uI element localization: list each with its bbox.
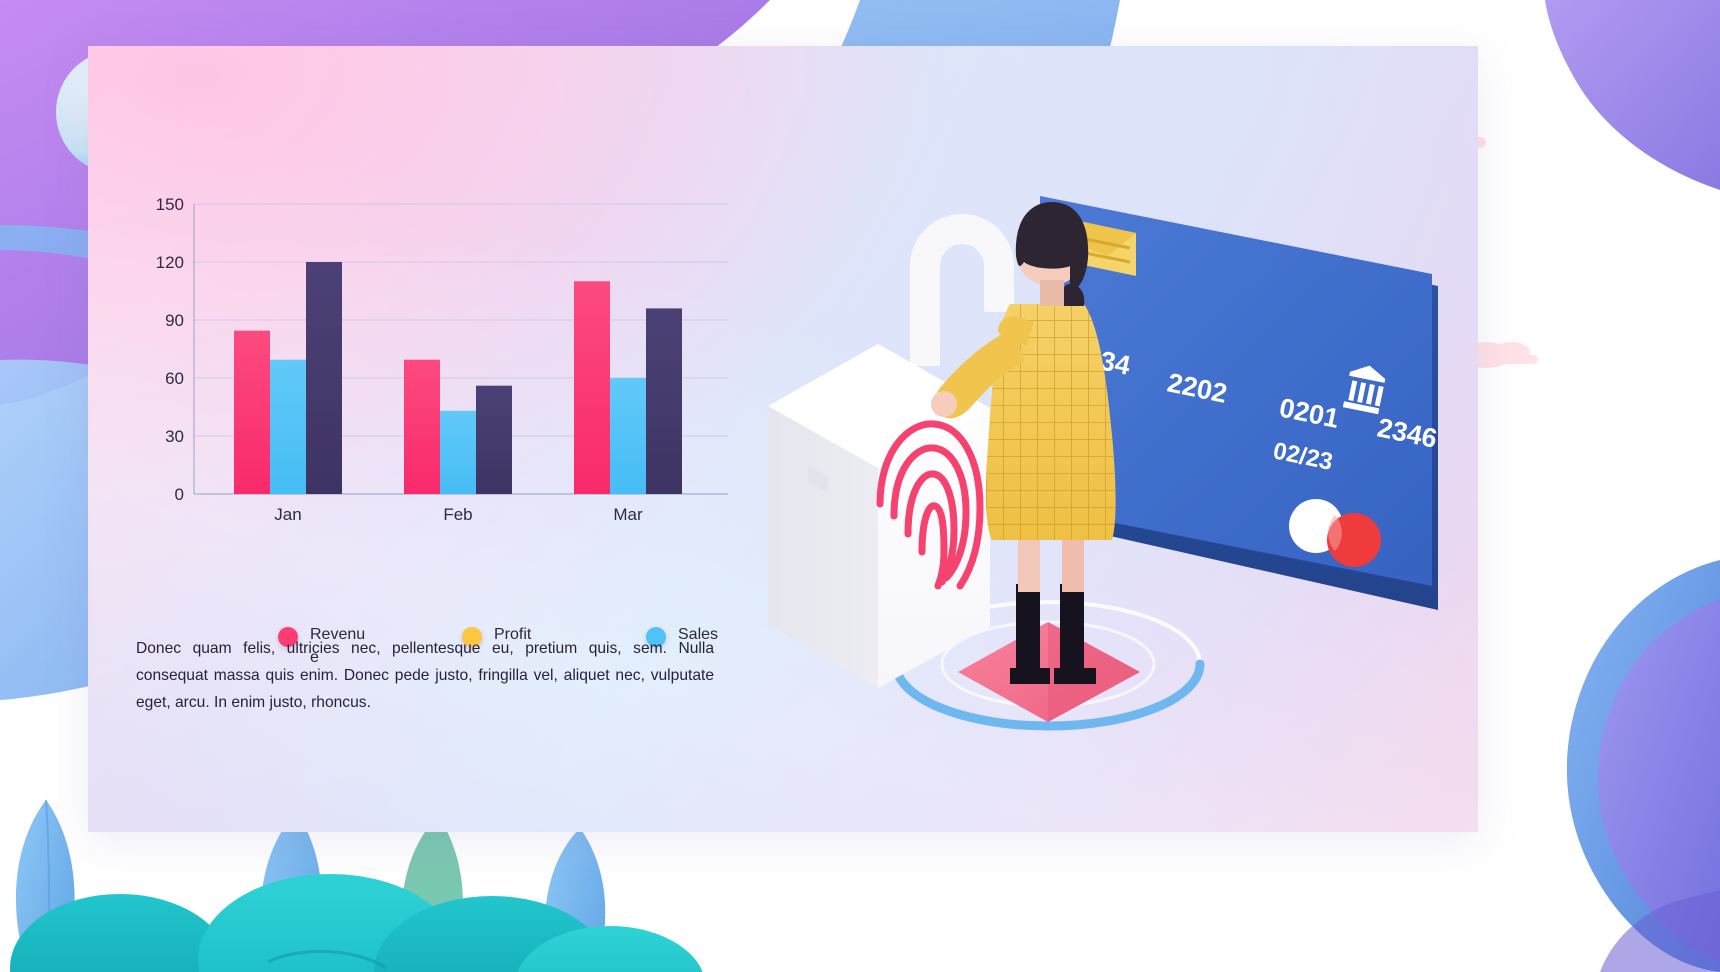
bar-jan-sales <box>270 360 306 494</box>
x-tick-mar: Mar <box>613 505 643 524</box>
bar-jan-revenue <box>234 331 270 494</box>
content-card: 150 120 90 60 30 0 Jan <box>88 46 1478 832</box>
y-tick-30: 30 <box>165 427 184 446</box>
padlock <box>768 214 1014 688</box>
bar-chart-svg: 150 120 90 60 30 0 Jan <box>136 196 756 596</box>
blob-purple-topright <box>1545 0 1720 190</box>
illustration-security-payment: 234 2202 0201 2346 02/23 <box>748 116 1468 796</box>
x-tick-jan: Jan <box>274 505 301 524</box>
bar-feb-revenue <box>404 360 440 494</box>
neck <box>1040 280 1064 306</box>
bar-mar-sales <box>610 378 646 494</box>
body-paragraph: Donec quam felis, ultricies nec, pellent… <box>136 636 714 716</box>
hand <box>931 391 957 417</box>
bar-jan-profit <box>306 262 342 494</box>
y-tick-60: 60 <box>165 369 184 388</box>
slide-canvas: 150 120 90 60 30 0 Jan <box>0 0 1720 972</box>
bar-chart: 150 120 90 60 30 0 Jan <box>136 196 756 596</box>
x-tick-feb: Feb <box>443 505 472 524</box>
bar-feb-sales <box>440 411 476 494</box>
bar-feb-profit <box>476 386 512 494</box>
illustration-svg: 234 2202 0201 2346 02/23 <box>748 116 1468 796</box>
y-tick-0: 0 <box>175 485 184 504</box>
y-tick-90: 90 <box>165 311 184 330</box>
y-tick-120: 120 <box>156 253 184 272</box>
boot-right <box>1054 584 1096 684</box>
bar-mar-revenue <box>574 281 610 494</box>
bar-mar-profit <box>646 308 682 494</box>
y-tick-150: 150 <box>156 196 184 214</box>
